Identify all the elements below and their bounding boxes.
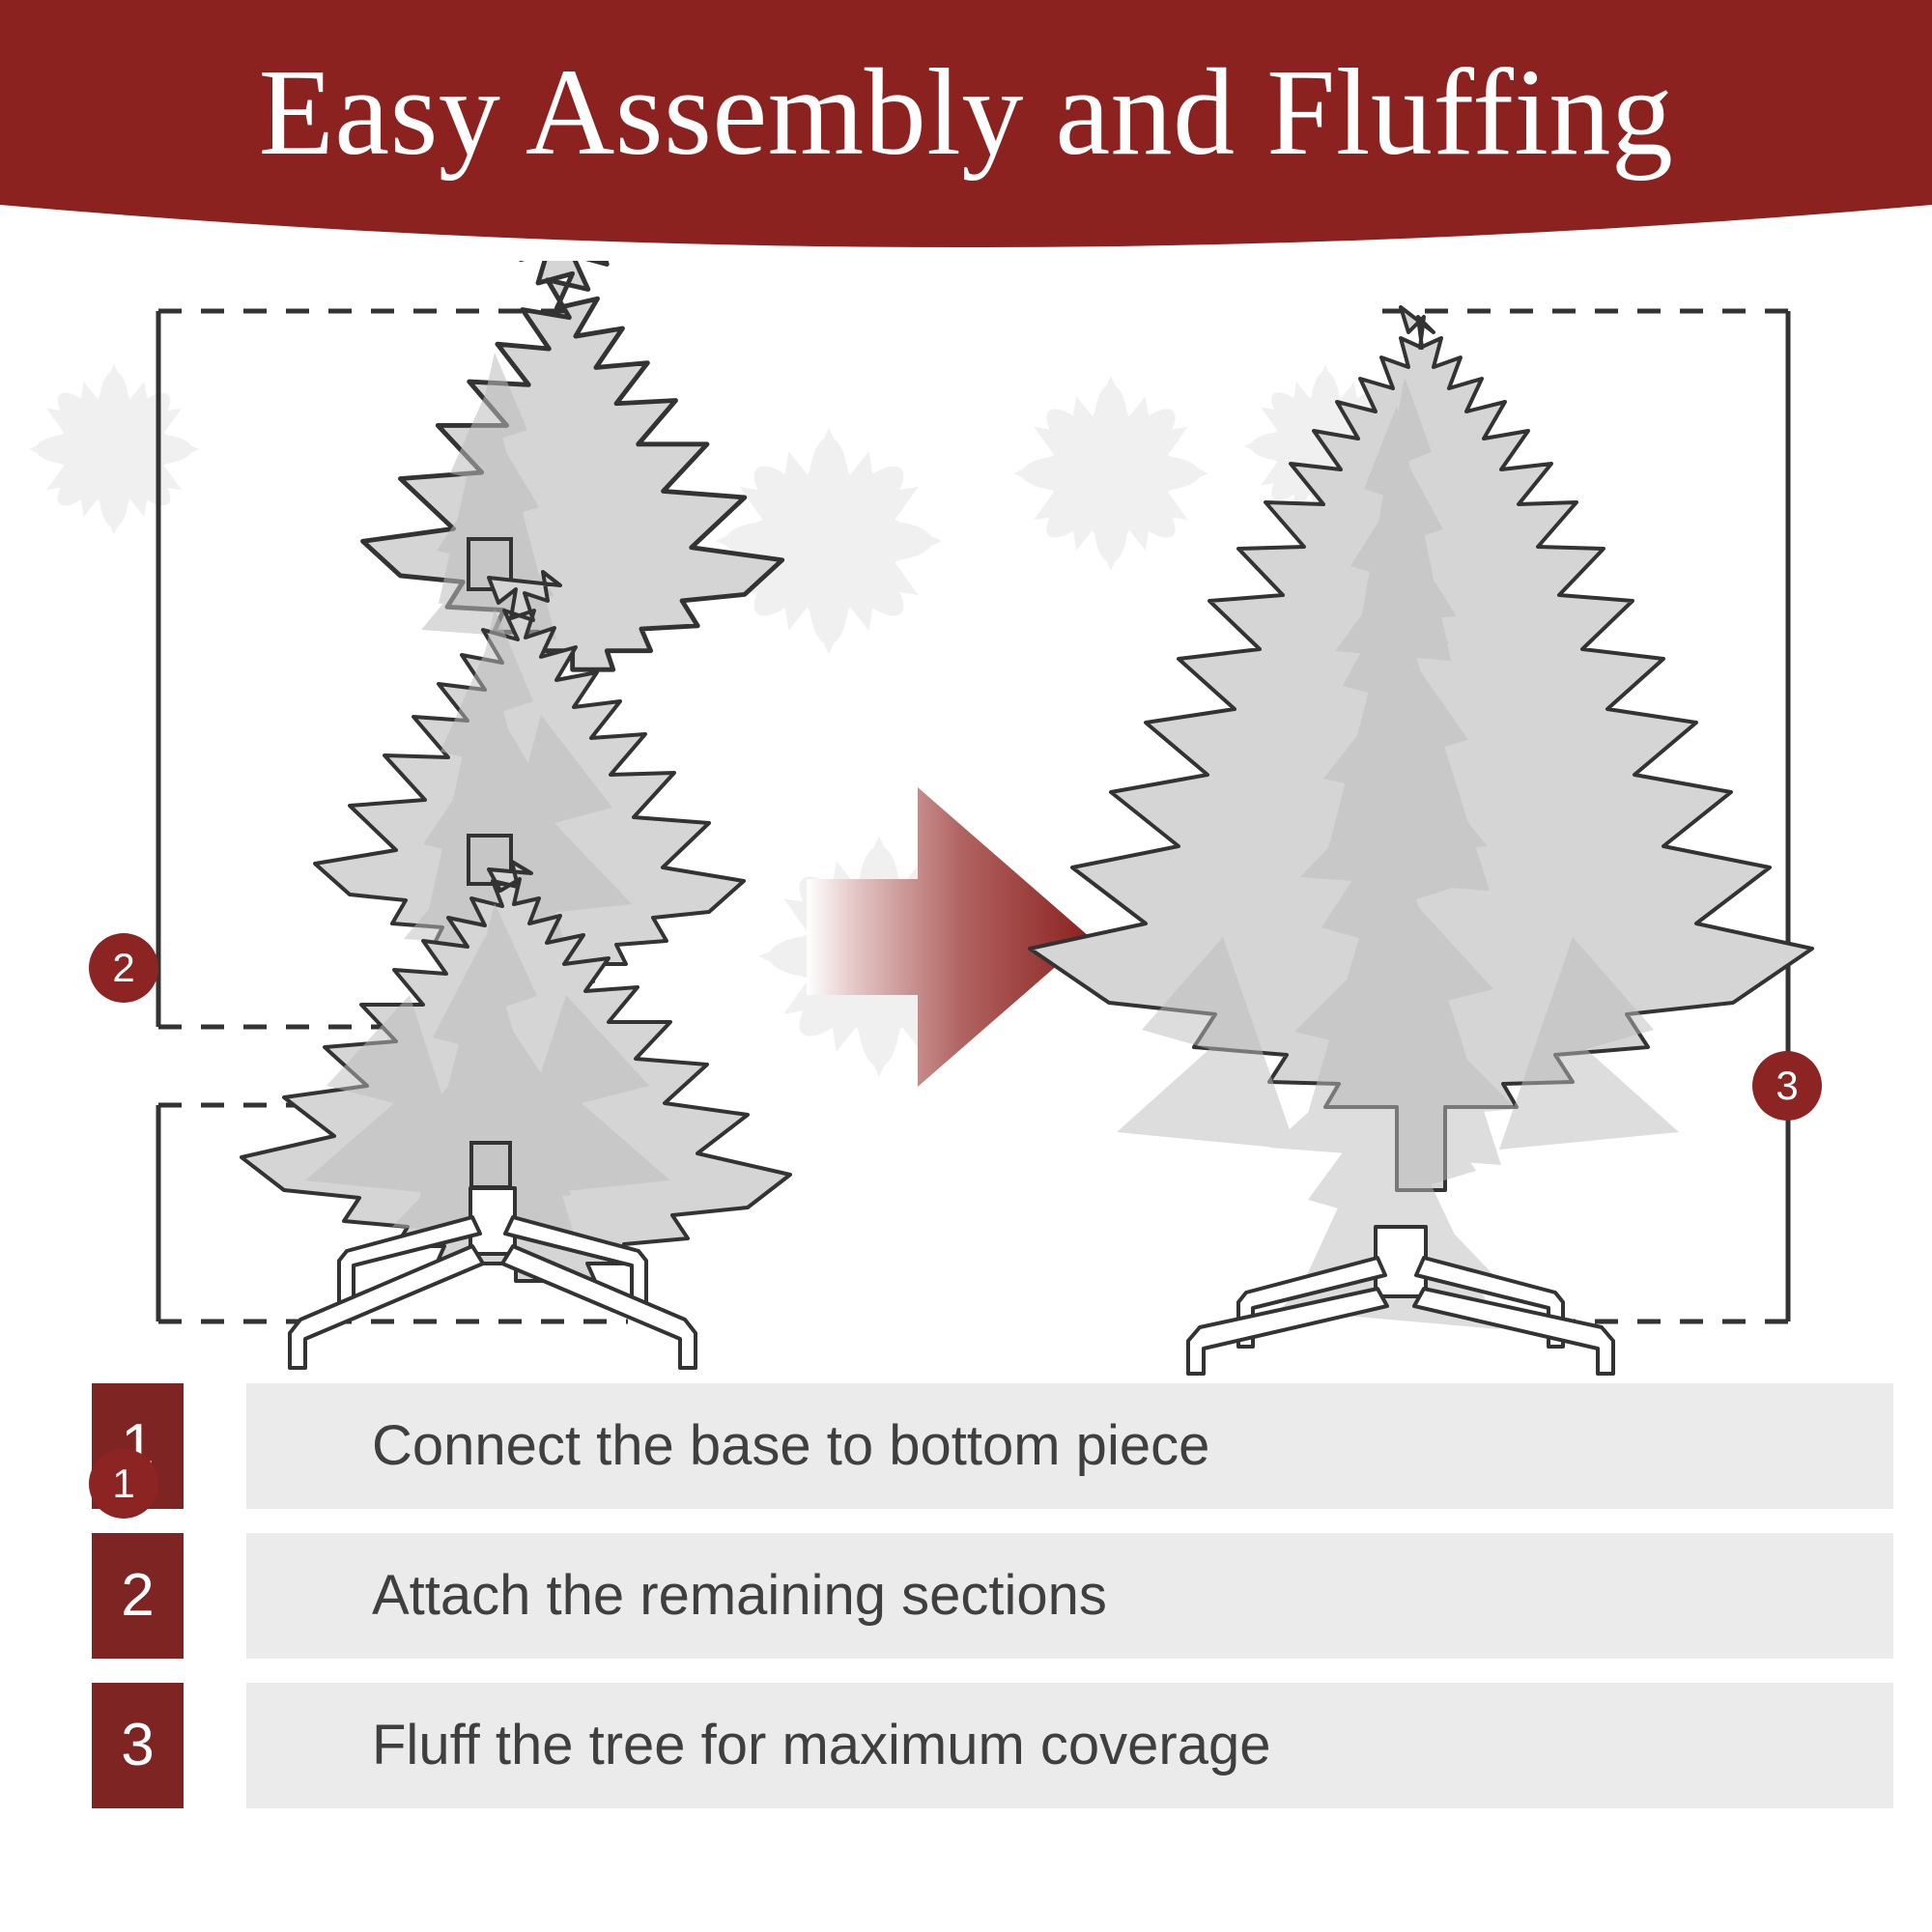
snowflake-icon <box>716 428 942 654</box>
bracket-badge-1: 1 <box>89 1449 158 1519</box>
step-row: 1 Connect the base to bottom piece <box>0 1383 1932 1509</box>
step-text-bar: Attach the remaining sections <box>246 1533 1893 1659</box>
section-connector-peg <box>471 1143 510 1187</box>
bracket-badge-3: 3 <box>1752 1051 1822 1121</box>
snowflake-icon <box>1013 376 1208 571</box>
tree-top-section <box>363 261 782 669</box>
step-description: Attach the remaining sections <box>246 1566 1107 1626</box>
infographic-canvas: Easy Assembly and Fluffing <box>0 0 1932 1932</box>
step-text-bar: Fluff the tree for maximum coverage <box>246 1683 1893 1808</box>
steps-legend: 1 Connect the base to bottom piece 2 Att… <box>0 1383 1932 1833</box>
step-number-badge: 2 <box>92 1533 184 1659</box>
assembly-illustration: 1 2 3 <box>0 261 1932 1381</box>
step-row: 2 Attach the remaining sections <box>0 1533 1932 1659</box>
transition-arrow <box>807 787 1090 1087</box>
step-description: Fluff the tree for maximum coverage <box>246 1716 1271 1776</box>
step-number-badge: 3 <box>92 1683 184 1808</box>
snowflake-icon <box>29 364 200 535</box>
disassembled-tree <box>241 261 790 1368</box>
illustration-svg <box>0 261 1932 1381</box>
step-row: 3 Fluff the tree for maximum coverage <box>0 1683 1932 1808</box>
bracket-badge-2: 2 <box>89 933 158 1003</box>
page-title: Easy Assembly and Fluffing <box>0 44 1932 180</box>
step-text-bar: Connect the base to bottom piece <box>246 1383 1893 1509</box>
header-banner: Easy Assembly and Fluffing <box>0 0 1932 290</box>
step-description: Connect the base to bottom piece <box>246 1416 1209 1476</box>
